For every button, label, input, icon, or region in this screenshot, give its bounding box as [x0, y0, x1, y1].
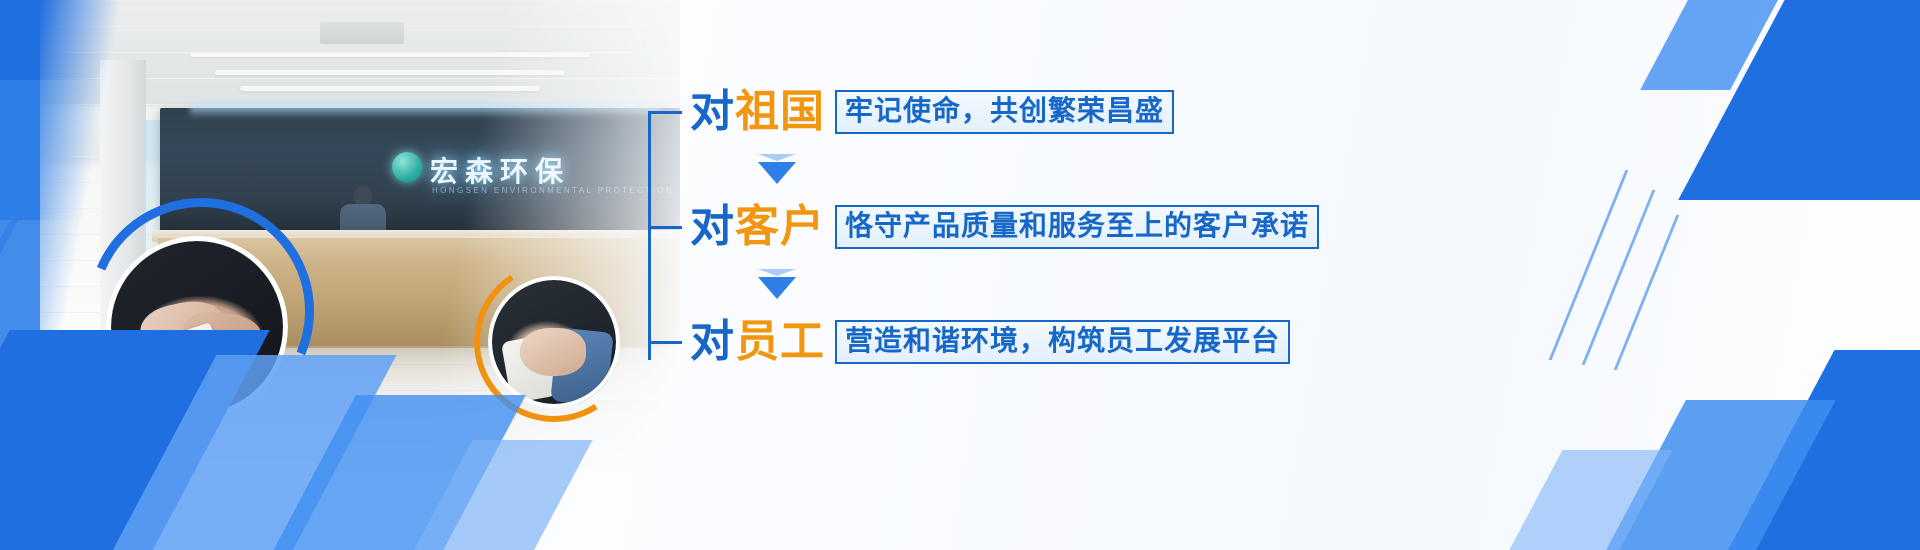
culture-heading-2-prefix: 对 — [690, 201, 735, 252]
culture-phrase-3: 营造和谐环境，构筑员工发展平台 — [835, 320, 1290, 364]
down-arrow-2-cap — [758, 269, 796, 276]
company-logo-subtext: HONGSEN ENVIRONMENTAL PROTECTION — [432, 186, 674, 195]
bracket-tick-3 — [648, 341, 682, 344]
culture-heading-1-keyword: 祖国 — [735, 86, 825, 137]
ceiling-light-1 — [190, 52, 590, 57]
culture-row-yuangong: 对员工 营造和谐环境，构筑员工发展平台 — [648, 314, 1290, 370]
culture-phrase-1: 牢记使命，共创繁荣昌盛 — [835, 90, 1174, 134]
reception-wall-glow — [190, 104, 660, 118]
culture-heading-3-keyword: 员工 — [735, 316, 825, 367]
company-logo-text: 宏森环保 — [430, 150, 570, 190]
bracket-tick-1 — [648, 111, 682, 114]
down-arrow-1 — [758, 162, 796, 184]
culture-statement-list: 对祖国 牢记使命，共创繁荣昌盛 对客户 恪守产品质量和服务至上的客户承诺 对员工… — [648, 70, 1368, 400]
culture-heading-2: 对客户 — [690, 205, 825, 249]
bracket-tick-2 — [648, 226, 682, 229]
ceiling-light-3 — [240, 86, 540, 91]
culture-row-guojia: 对祖国 牢记使命，共创繁荣昌盛 — [648, 84, 1174, 140]
down-arrow-2 — [758, 277, 796, 299]
ceiling-vent — [320, 22, 404, 44]
staff-head — [354, 186, 372, 206]
culture-heading-1-prefix: 对 — [690, 86, 735, 137]
culture-row-kehu: 对客户 恪守产品质量和服务至上的客户承诺 — [648, 199, 1319, 255]
deco-line-right-1 — [1549, 170, 1629, 360]
down-arrow-1-cap — [758, 154, 796, 161]
ceiling-light-2 — [215, 70, 565, 75]
culture-phrase-2: 恪守产品质量和服务至上的客户承诺 — [835, 205, 1319, 249]
culture-heading-1: 对祖国 — [690, 90, 825, 134]
culture-heading-3: 对员工 — [690, 320, 825, 364]
culture-heading-2-keyword: 客户 — [735, 201, 825, 252]
team-circle-border — [488, 276, 620, 408]
team-circle-photo — [488, 276, 620, 408]
culture-heading-3-prefix: 对 — [690, 316, 735, 367]
deco-line-right-2 — [1582, 190, 1656, 365]
company-logo-mark — [392, 152, 422, 182]
company-culture-banner: 宏森环保 HONGSEN ENVIRONMENTAL PROTECTION — [0, 0, 1920, 550]
deco-line-right-3 — [1614, 215, 1680, 370]
